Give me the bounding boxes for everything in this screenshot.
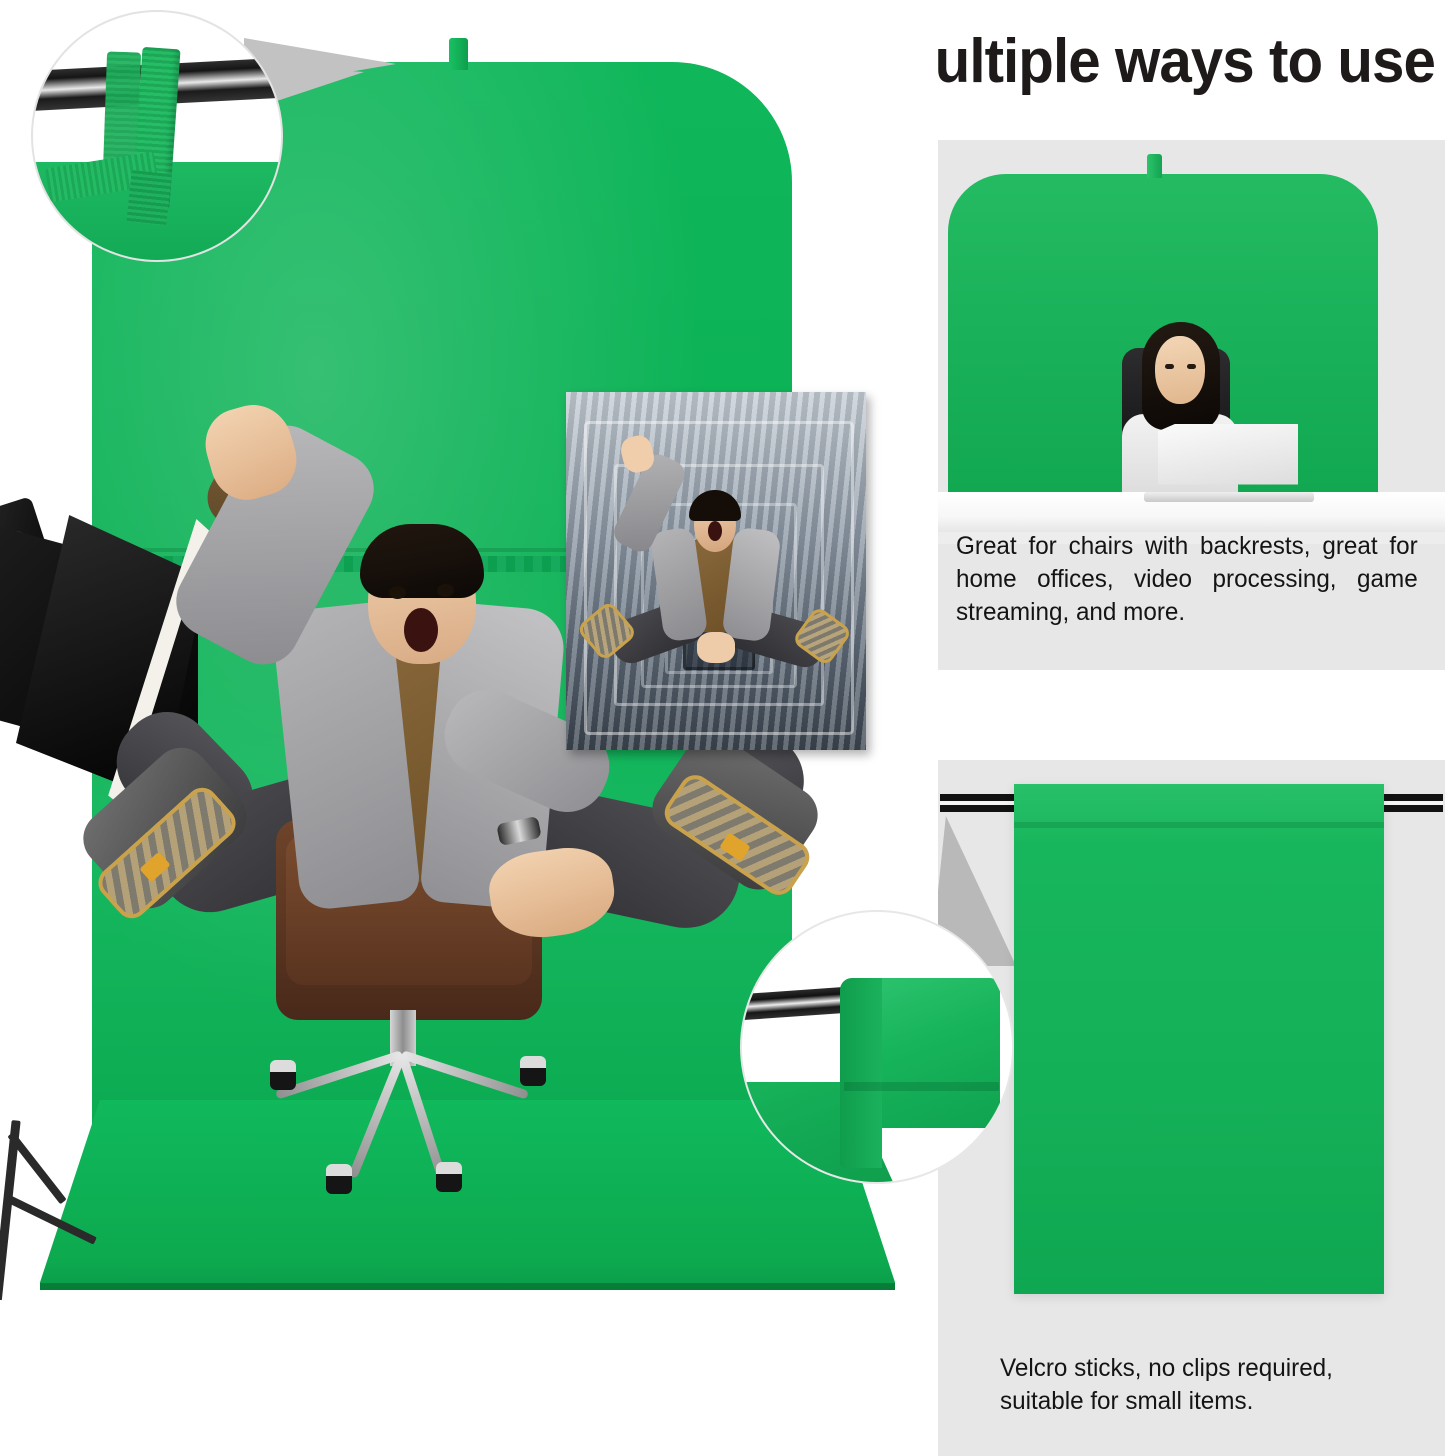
woman-eye-right — [1187, 364, 1196, 369]
model-open-mouth — [404, 608, 438, 652]
stand-leg — [7, 1132, 66, 1205]
stand-leg — [7, 1195, 97, 1244]
model-eye-left — [389, 586, 406, 599]
chair-screen-strap-tab — [1147, 154, 1162, 178]
strap-end — [126, 170, 171, 226]
magnifier-cloth-hem — [844, 1082, 999, 1091]
chair-caster — [520, 1056, 546, 1086]
inset-model-hair — [689, 490, 740, 521]
top-right-caption: Great for chairs with backrests, great f… — [956, 530, 1418, 629]
chair-caster — [270, 1060, 296, 1090]
cloth-fold-line — [1014, 822, 1384, 828]
woman-eye-left — [1165, 364, 1174, 369]
chair-caster — [436, 1162, 462, 1192]
model-hair — [360, 524, 484, 598]
infographic-canvas: Multiple ways to use — [0, 0, 1445, 1456]
chair-base-arm — [401, 1050, 529, 1099]
panel-rod-backdrop — [938, 760, 1445, 1325]
model-eye-right — [437, 584, 454, 597]
woman-face — [1155, 336, 1205, 404]
bottom-right-caption: Velcro sticks, no clips required, suitab… — [1000, 1352, 1417, 1418]
inset-model — [638, 485, 794, 707]
velcro-strap-magnifier — [33, 12, 281, 260]
inset-model-forward-hand — [697, 632, 734, 663]
magnifier-cloth-flap — [840, 978, 882, 1168]
laptop-base — [1144, 492, 1314, 502]
inset-model-mouth — [708, 521, 722, 541]
chair-caster — [326, 1164, 352, 1194]
chroma-key-result-inset — [566, 392, 866, 750]
hanging-green-cloth — [1014, 784, 1384, 1294]
velcro-fold-magnifier — [742, 912, 1012, 1182]
hanging-strap-tab — [449, 38, 468, 70]
